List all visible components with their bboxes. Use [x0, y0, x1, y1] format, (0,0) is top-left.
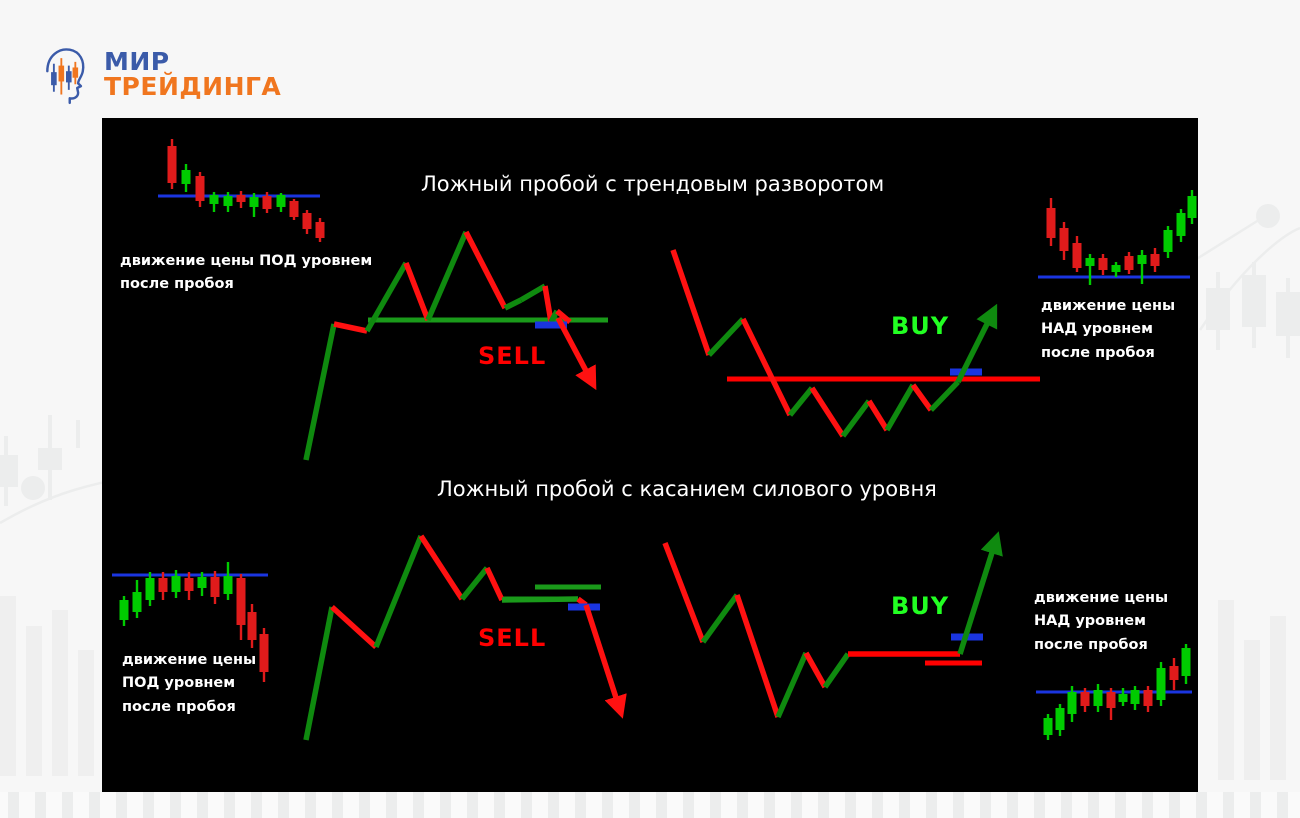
price-segment: [334, 324, 367, 331]
annotation-bottom-left: движение цены ПОД уровнем после пробоя: [122, 649, 256, 719]
price-segment: [806, 653, 825, 687]
candle-body: [316, 222, 325, 238]
candle-body: [210, 195, 219, 204]
candle-body: [237, 578, 246, 625]
signal-arrow: [586, 605, 620, 710]
price-segment: [421, 536, 462, 599]
price-segment: [665, 543, 703, 642]
brand-logo[interactable]: МИР ТРЕЙДИНГА: [38, 43, 281, 105]
candle-body: [1119, 694, 1128, 702]
price-segment: [462, 568, 487, 599]
candle-body: [1073, 243, 1082, 268]
candle-body: [1056, 708, 1065, 730]
candle-body: [224, 576, 233, 594]
candle-body: [1144, 690, 1153, 706]
candle-body: [250, 197, 259, 207]
price-segment: [376, 536, 421, 647]
candle-body: [1107, 692, 1116, 708]
false-breakout-diagram: [102, 118, 1198, 792]
price-segment: [843, 401, 869, 436]
candle-body: [1182, 648, 1191, 676]
candle-body: [168, 146, 177, 183]
candle-body: [237, 195, 246, 202]
candle-body: [196, 176, 205, 201]
price-segment: [737, 595, 778, 717]
candle-body: [1060, 228, 1069, 251]
candle-body: [1188, 196, 1197, 218]
price-segment: [703, 595, 737, 642]
zigzag-false-breakout-level-touch-buy: [665, 540, 996, 717]
price-segment: [306, 324, 334, 460]
candle-body: [224, 196, 233, 206]
price-segment: [406, 263, 428, 320]
candle-body: [1086, 258, 1095, 266]
annotation-line: после пробоя: [1041, 342, 1175, 365]
price-segment: [428, 232, 466, 320]
logo-text-line1: МИР: [104, 49, 281, 75]
price-segment: [466, 232, 505, 308]
head-candlestick-icon: [38, 43, 94, 105]
candle-body: [198, 577, 207, 588]
annotation-line: ПОД уровнем: [122, 672, 256, 695]
candle-body: [1047, 208, 1056, 238]
candle-body: [1081, 692, 1090, 706]
candle-body: [290, 201, 299, 217]
candle-body: [1170, 666, 1179, 680]
candle-body: [1164, 230, 1173, 252]
zigzag-false-breakout-level-touch-sell: [306, 536, 620, 740]
signal-sell-bottom: SELL: [478, 624, 546, 652]
price-segment: [306, 607, 332, 740]
annotation-line: движение цены: [1041, 295, 1175, 318]
candle-body: [303, 213, 312, 229]
price-segment: [709, 319, 743, 355]
logo-text-line2: ТРЕЙДИНГА: [104, 74, 281, 100]
price-segment: [487, 568, 502, 600]
annotation-line: движение цены ПОД уровнем: [120, 250, 372, 273]
annotation-line: движение цены: [1034, 587, 1168, 610]
price-segment: [790, 388, 812, 415]
annotation-line: после пробоя: [122, 696, 256, 719]
candle-body: [172, 576, 181, 592]
candles-top-right: [1038, 190, 1197, 285]
candles-bottom-right: [1036, 644, 1192, 740]
price-segment: [521, 286, 545, 300]
annotation-bottom-right: движение цены НАД уровнем после пробоя: [1034, 587, 1168, 657]
candle-body: [260, 634, 269, 672]
price-segment: [812, 388, 843, 436]
candle-body: [159, 578, 168, 592]
price-segment: [502, 599, 578, 600]
candle-body: [1099, 258, 1108, 270]
candle-body: [1112, 265, 1121, 272]
price-segment: [887, 385, 913, 430]
candle-body: [185, 578, 194, 591]
signal-buy-top: BUY: [891, 312, 949, 340]
annotation-line: после пробоя: [120, 273, 372, 296]
annotation-top-right: движение цены НАД уровнем после пробоя: [1041, 295, 1175, 365]
price-segment: [673, 250, 709, 355]
price-segment: [931, 382, 958, 410]
candle-body: [1177, 213, 1186, 236]
candle-body: [146, 578, 155, 600]
annotation-line: НАД уровнем: [1041, 318, 1175, 341]
candle-body: [211, 577, 220, 597]
candles-top-left: [158, 139, 325, 242]
annotation-line: после пробоя: [1034, 634, 1168, 657]
signal-sell-top: SELL: [478, 342, 546, 370]
candle-body: [120, 600, 129, 620]
price-segment: [743, 319, 790, 415]
price-segment: [825, 654, 848, 687]
price-segment: [778, 653, 806, 717]
candle-body: [277, 195, 286, 207]
diagram-title-top: Ложный пробой с трендовым разворотом: [421, 172, 884, 196]
price-segment: [505, 300, 521, 308]
price-segment: [545, 286, 551, 322]
annotation-line: движение цены: [122, 649, 256, 672]
zigzag-false-breakout-trend-reversal-buy: [673, 250, 1040, 436]
candle-body: [1044, 718, 1053, 735]
candle-body: [1157, 668, 1166, 700]
diagram-panel: Ложный пробой с трендовым разворотом Лож…: [102, 118, 1198, 792]
candle-body: [1138, 255, 1147, 264]
price-segment: [869, 401, 887, 430]
candle-body: [1125, 256, 1134, 270]
price-segment: [332, 607, 376, 647]
diagram-title-bottom: Ложный пробой с касанием силового уровня: [437, 477, 937, 501]
candle-body: [1094, 690, 1103, 706]
annotation-line: НАД уровнем: [1034, 610, 1168, 633]
signal-buy-bottom: BUY: [891, 592, 949, 620]
candle-body: [263, 196, 272, 209]
signal-arrow: [558, 318, 592, 382]
candle-body: [1131, 690, 1140, 704]
candle-body: [248, 612, 257, 640]
annotation-top-left: движение цены ПОД уровнем после пробоя: [120, 250, 372, 297]
candle-body: [133, 592, 142, 612]
candle-body: [1151, 254, 1160, 266]
price-segment: [913, 385, 931, 410]
candle-body: [1068, 692, 1077, 714]
candle-body: [182, 170, 191, 184]
